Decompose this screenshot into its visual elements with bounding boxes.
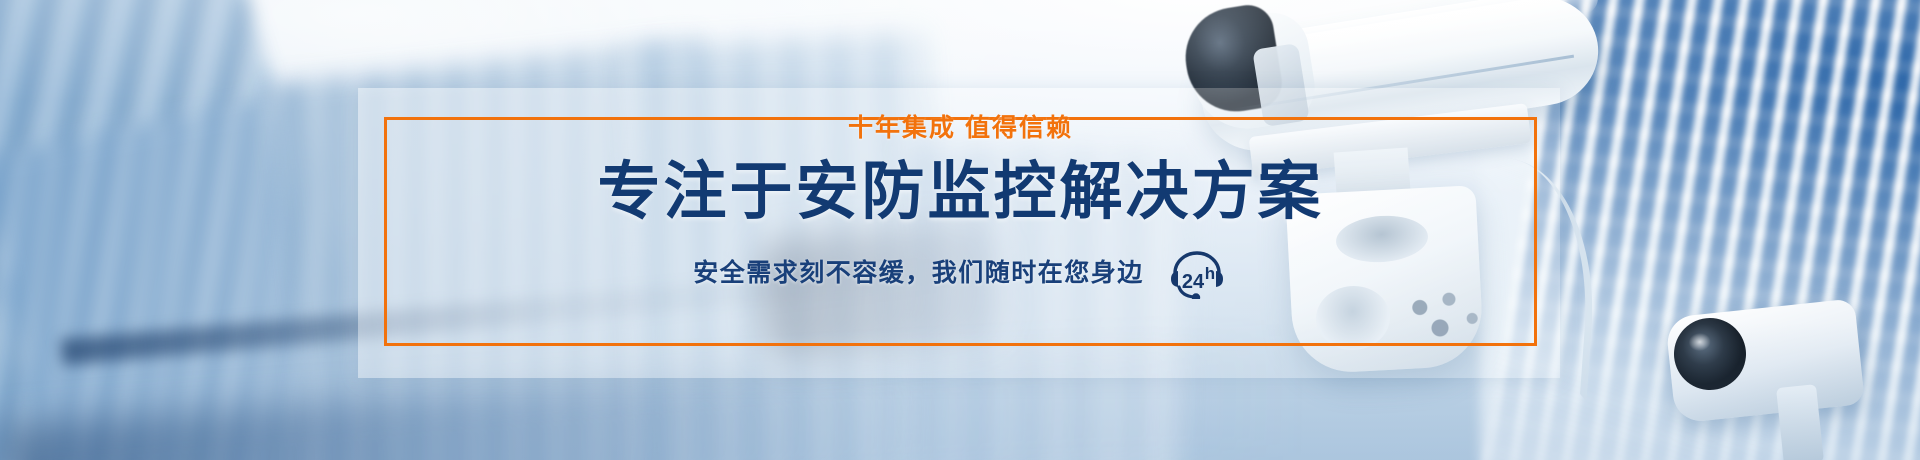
- banner-content: 十年集成 值得信赖 专注于安防监控解决方案 安全需求刻不容缓，我们随时在您身边 …: [384, 117, 1537, 346]
- headset-24h-icon: 24 h: [1166, 243, 1228, 299]
- badge-hours: 24: [1182, 271, 1205, 293]
- badge-unit: h: [1205, 264, 1215, 283]
- banner-headline: 专注于安防监控解决方案: [598, 157, 1324, 228]
- banner-subtitle-row: 安全需求刻不容缓，我们随时在您身边 24 h: [693, 243, 1228, 299]
- banner-subtitle: 安全需求刻不容缓，我们随时在您身边: [693, 253, 1144, 289]
- hero-banner: 十年集成 值得信赖 专注于安防监控解决方案 安全需求刻不容缓，我们随时在您身边 …: [0, 0, 1920, 460]
- banner-kicker: 十年集成 值得信赖: [848, 115, 1073, 143]
